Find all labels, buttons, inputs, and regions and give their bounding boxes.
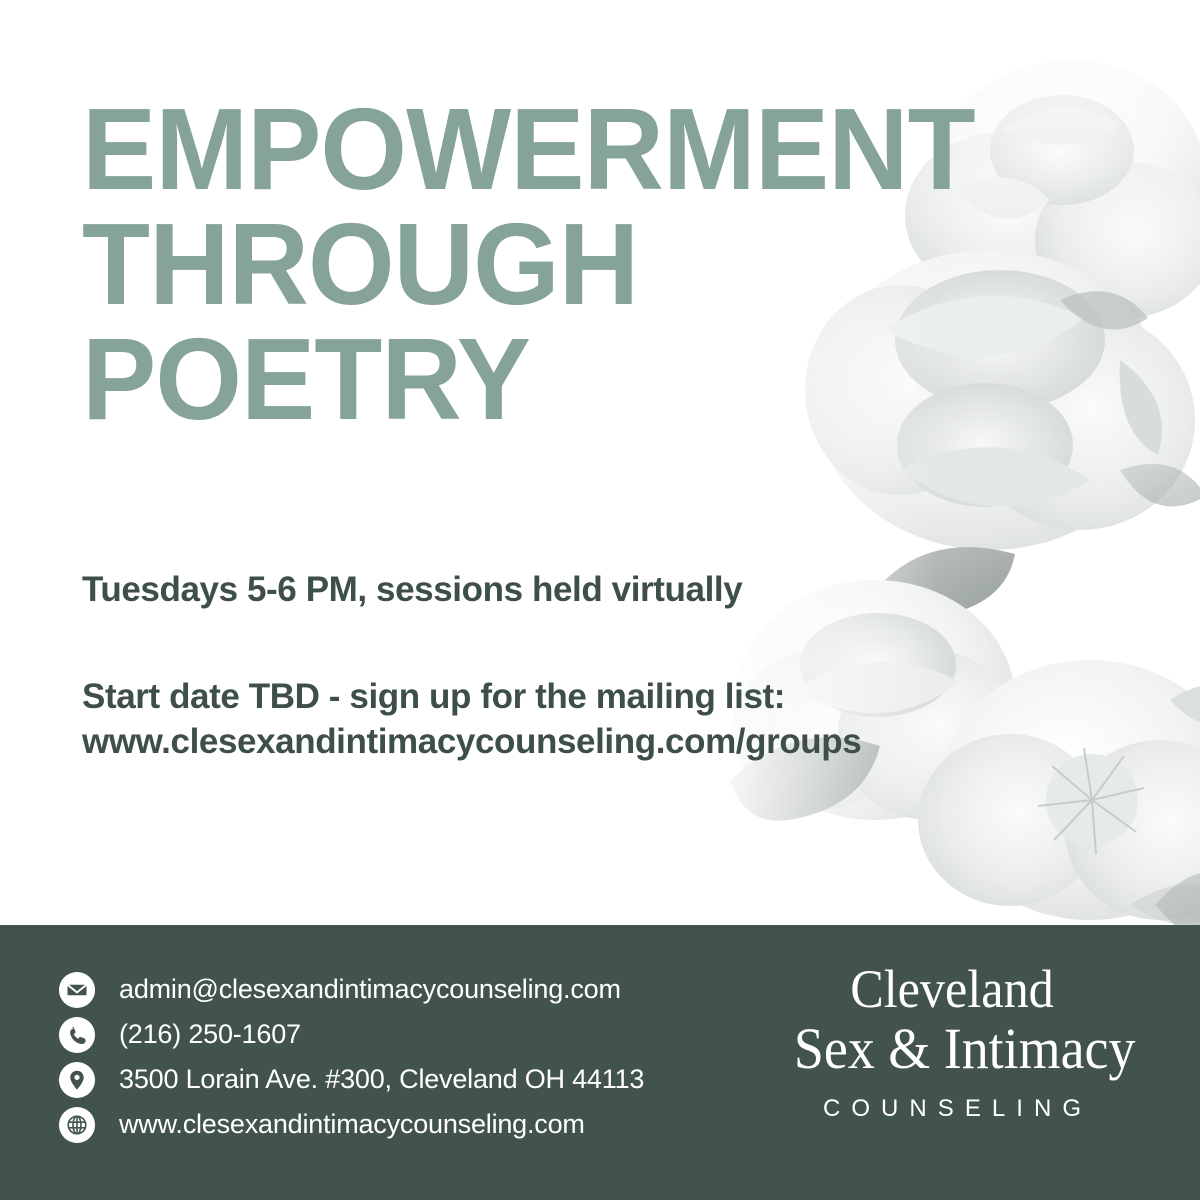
footer-band: admin@clesexandintimacycounseling.com (2… (0, 925, 1200, 1200)
globe-icon (58, 1106, 96, 1144)
headline-line-3: POETRY (82, 322, 1100, 437)
phone-icon (58, 1016, 96, 1054)
logo-line-cleveland: Cleveland (794, 961, 1110, 1017)
contact-row-website[interactable]: www.clesexandintimacycounseling.com (58, 1104, 644, 1145)
contact-website-text: www.clesexandintimacycounseling.com (119, 1109, 585, 1140)
logo-line-sex-intimacy: Sex & Intimacy (794, 1019, 1110, 1079)
contact-email-text: admin@clesexandintimacycounseling.com (119, 974, 621, 1005)
logo-line-counseling: COUNSELING (782, 1095, 1122, 1123)
brand-logo: Cleveland Sex & Intimacy COUNSELING (782, 961, 1122, 1123)
body-copy: Tuesdays 5-6 PM, sessions held virtually… (82, 568, 1172, 764)
schedule-text: Tuesdays 5-6 PM, sessions held virtually (82, 568, 1172, 613)
location-pin-icon (58, 1061, 96, 1099)
poster-canvas: EMPOWERMENT THROUGH POETRY Tuesdays 5-6 … (0, 0, 1200, 1200)
page-title: EMPOWERMENT THROUGH POETRY (82, 92, 1100, 436)
contact-row-phone[interactable]: (216) 250-1607 (58, 1014, 644, 1055)
contact-row-email[interactable]: admin@clesexandintimacycounseling.com (58, 969, 644, 1010)
contact-row-address[interactable]: 3500 Lorain Ave. #300, Cleveland OH 4411… (58, 1059, 644, 1100)
headline-line-2: THROUGH (82, 207, 1100, 322)
signup-text: Start date TBD - sign up for the mailing… (82, 675, 1172, 720)
envelope-icon (58, 971, 96, 1009)
contact-address-text: 3500 Lorain Ave. #300, Cleveland OH 4411… (119, 1064, 644, 1095)
contact-list: admin@clesexandintimacycounseling.com (2… (58, 969, 644, 1149)
signup-url[interactable]: www.clesexandintimacycounseling.com/grou… (82, 720, 1172, 765)
copy-spacer (82, 613, 1172, 675)
contact-phone-text: (216) 250-1607 (119, 1019, 301, 1050)
headline-line-1: EMPOWERMENT (82, 92, 1100, 207)
